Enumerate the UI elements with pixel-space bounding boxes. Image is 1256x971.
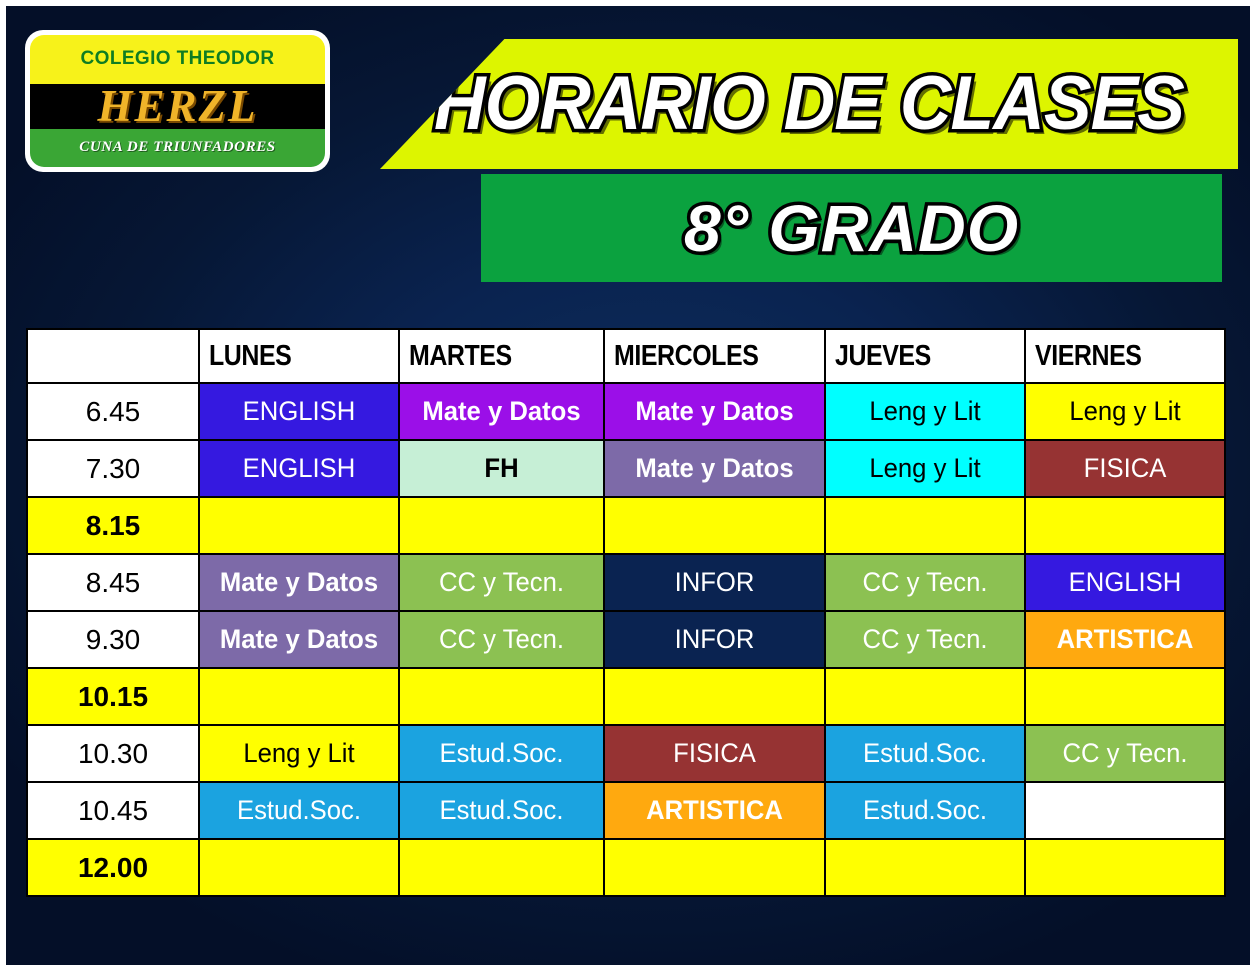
empty-cell [604,497,825,554]
subject-cell: FISICA [604,725,825,782]
subject-label: Mate y Datos [610,455,818,482]
empty-cell [604,839,825,896]
logo-school-name: COLEGIO THEODOR [81,48,275,70]
subject-cell: FH [399,440,604,497]
schedule-table: LUNES MARTES MIERCOLES JUEVES VIERNES 6.… [26,328,1226,897]
table-header-row: LUNES MARTES MIERCOLES JUEVES VIERNES [27,329,1225,383]
schedule-poster: COLEGIO THEODOR HERZL CUNA DE TRIUNFADOR… [6,6,1250,965]
subject-cell: CC y Tecn. [399,611,604,668]
empty-cell [1025,839,1225,896]
empty-cell [825,839,1025,896]
subject-cell: Mate y Datos [399,383,604,440]
header-miercoles-label: MIERCOLES [614,340,758,373]
subject-label: Estud.Soc. [405,740,598,767]
subject-cell: Estud.Soc. [399,725,604,782]
subject-label: Leng y Lit [205,740,393,767]
header-jueves: JUEVES [825,329,1025,383]
empty-cell [399,839,604,896]
subject-cell: Estud.Soc. [399,782,604,839]
empty-cell [825,668,1025,725]
subject-cell: Leng y Lit [825,440,1025,497]
subject-cell: CC y Tecn. [825,554,1025,611]
time-cell: 10.45 [27,782,199,839]
grade-banner: 8° GRADO [481,174,1222,282]
subject-label: CC y Tecn. [831,569,1019,596]
subject-label: INFOR [610,626,818,653]
subject-cell: INFOR [604,554,825,611]
subject-label: ARTISTICA [610,797,818,824]
table-row: 10.30Leng y LitEstud.Soc.FISICAEstud.Soc… [27,725,1225,782]
header-corner-cell [27,329,199,383]
empty-cell [399,497,604,554]
subject-label: Leng y Lit [1031,398,1219,425]
subject-label: Estud.Soc. [831,797,1019,824]
subject-cell: CC y Tecn. [1025,725,1225,782]
table-row: 12.00 [27,839,1225,896]
table-row: 8.45Mate y DatosCC y Tecn.INFORCC y Tecn… [27,554,1225,611]
header-lunes: LUNES [199,329,399,383]
empty-cell [1025,782,1225,839]
time-cell: 12.00 [27,839,199,896]
subject-cell: ENGLISH [199,383,399,440]
subject-label: Estud.Soc. [831,740,1019,767]
subject-label: ENGLISH [205,398,393,425]
time-cell: 10.30 [27,725,199,782]
header-viernes-label: VIERNES [1035,340,1141,373]
logo-band-motto: CUNA DE TRIUNFADORES [30,129,325,167]
subject-label: Estud.Soc. [405,797,598,824]
logo-herzl-text: HERZL [97,84,257,129]
empty-cell [604,668,825,725]
subject-cell: CC y Tecn. [399,554,604,611]
subject-cell: CC y Tecn. [825,611,1025,668]
table-row: 6.45ENGLISHMate y DatosMate y DatosLeng … [27,383,1225,440]
school-logo: COLEGIO THEODOR HERZL CUNA DE TRIUNFADOR… [25,30,330,172]
header-lunes-label: LUNES [209,340,291,373]
subject-cell: INFOR [604,611,825,668]
time-cell: 6.45 [27,383,199,440]
empty-cell [199,497,399,554]
subject-cell: Estud.Soc. [199,782,399,839]
table-row: 7.30ENGLISHFHMate y DatosLeng y LitFISIC… [27,440,1225,497]
subject-cell: Leng y Lit [199,725,399,782]
empty-cell [199,839,399,896]
empty-cell [1025,668,1225,725]
table-row: 10.45Estud.Soc.Estud.Soc.ARTISTICAEstud.… [27,782,1225,839]
subject-cell: ENGLISH [199,440,399,497]
subject-label: CC y Tecn. [831,626,1019,653]
poster-title: HORARIO DE CLASES [434,66,1184,142]
time-cell: 9.30 [27,611,199,668]
subject-label: Leng y Lit [831,398,1019,425]
time-cell: 8.15 [27,497,199,554]
subject-label: CC y Tecn. [405,626,598,653]
subject-label: FH [405,455,598,482]
subject-cell: Estud.Soc. [825,782,1025,839]
schedule-body: 6.45ENGLISHMate y DatosMate y DatosLeng … [27,383,1225,896]
subject-label: CC y Tecn. [1031,740,1219,767]
logo-bands: COLEGIO THEODOR HERZL CUNA DE TRIUNFADOR… [30,35,325,167]
empty-cell [825,497,1025,554]
subject-label: ENGLISH [205,455,393,482]
subject-label: Mate y Datos [405,398,598,425]
subject-label: FISICA [610,740,818,767]
title-banner: HORARIO DE CLASES [380,39,1238,169]
grade-label: 8° GRADO [684,195,1019,261]
header-martes-label: MARTES [409,340,512,373]
time-cell: 7.30 [27,440,199,497]
table-row: 8.15 [27,497,1225,554]
logo-band-herzl: HERZL [30,84,325,129]
subject-label: Leng y Lit [831,455,1019,482]
subject-label: ENGLISH [1031,569,1219,596]
time-cell: 8.45 [27,554,199,611]
subject-cell: Mate y Datos [199,554,399,611]
subject-label: Mate y Datos [205,626,393,653]
subject-label: Estud.Soc. [205,797,393,824]
table-row: 10.15 [27,668,1225,725]
subject-cell: ARTISTICA [1025,611,1225,668]
subject-label: FISICA [1031,455,1219,482]
subject-cell: ENGLISH [1025,554,1225,611]
empty-cell [199,668,399,725]
subject-label: CC y Tecn. [405,569,598,596]
subject-cell: Mate y Datos [604,383,825,440]
header-martes: MARTES [399,329,604,383]
subject-cell: Leng y Lit [1025,383,1225,440]
empty-cell [1025,497,1225,554]
empty-cell [399,668,604,725]
logo-band-school-name: COLEGIO THEODOR [30,35,325,84]
header-jueves-label: JUEVES [835,340,931,373]
subject-label: Mate y Datos [205,569,393,596]
subject-label: INFOR [610,569,818,596]
subject-cell: Mate y Datos [604,440,825,497]
subject-cell: ARTISTICA [604,782,825,839]
header-viernes: VIERNES [1025,329,1225,383]
subject-label: Mate y Datos [610,398,818,425]
subject-cell: Estud.Soc. [825,725,1025,782]
table-row: 9.30Mate y DatosCC y Tecn.INFORCC y Tecn… [27,611,1225,668]
subject-label: ARTISTICA [1031,626,1219,653]
logo-motto-text: CUNA DE TRIUNFADORES [79,139,276,156]
header-miercoles: MIERCOLES [604,329,825,383]
subject-cell: FISICA [1025,440,1225,497]
subject-cell: Leng y Lit [825,383,1025,440]
subject-cell: Mate y Datos [199,611,399,668]
time-cell: 10.15 [27,668,199,725]
